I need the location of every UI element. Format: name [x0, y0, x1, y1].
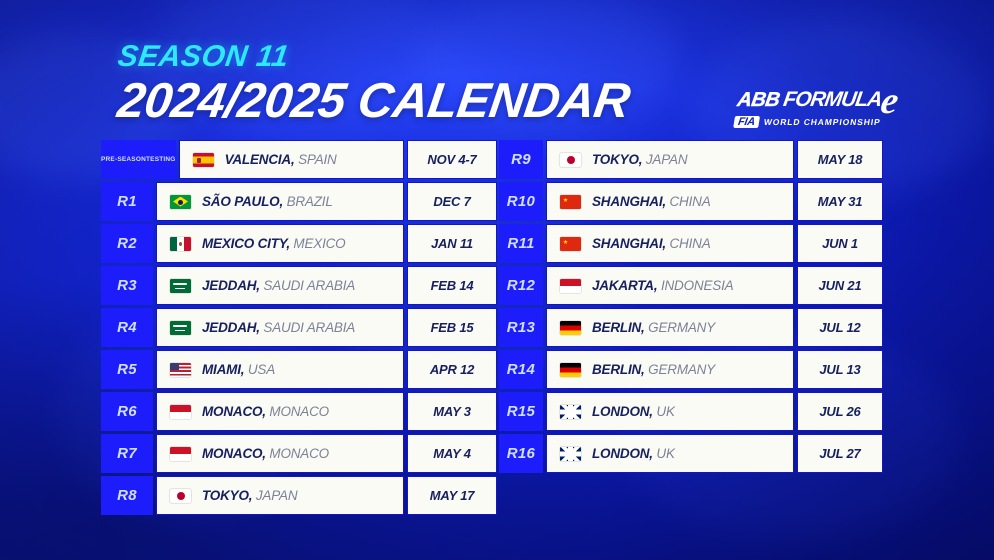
venue-cell: MEXICO CITY, MEXICO	[156, 224, 404, 263]
city-label: LONDON,	[592, 446, 653, 461]
calendar-row: R5MIAMI, USAAPR 12	[101, 350, 497, 389]
race-date: JUL 27	[797, 434, 883, 473]
flag-mexico-icon	[170, 237, 191, 251]
calendar-poster: SEASON 11 2024/2025 CALENDAR ABB FORMULA…	[0, 0, 994, 560]
venue-cell: MIAMI, USA	[156, 350, 404, 389]
country-label: INDONESIA	[657, 278, 733, 293]
venue-cell: LONDON, UK	[546, 434, 794, 473]
flag-germany-icon	[560, 363, 581, 377]
round-badge: R10	[499, 182, 543, 221]
country-label: BRAZIL	[283, 194, 333, 209]
calendar-row: R15LONDON, UKJUL 26	[499, 392, 883, 431]
venue-cell: VALENCIA, SPAIN	[179, 140, 404, 179]
calendar-row: R6MONACO, MONACOMAY 3	[101, 392, 497, 431]
race-date: MAY 31	[797, 182, 883, 221]
country-label: USA	[244, 362, 275, 377]
venue-cell: BERLIN, GERMANY	[546, 350, 794, 389]
race-date: JUN 21	[797, 266, 883, 305]
calendar-row: R2MEXICO CITY, MEXICOJAN 11	[101, 224, 497, 263]
round-badge: R11	[499, 224, 543, 263]
venue-text: MONACO, MONACO	[202, 446, 329, 461]
abb-wordmark: ABB	[736, 89, 781, 112]
country-label: SPAIN	[295, 152, 337, 167]
venue-text: LONDON, UK	[592, 446, 675, 461]
flag-united-kingdom-icon	[560, 405, 581, 419]
venue-cell: MONACO, MONACO	[156, 392, 404, 431]
country-label: SAUDI ARABIA	[260, 320, 355, 335]
flag-china-icon	[560, 237, 581, 251]
race-date: NOV 4-7	[407, 140, 497, 179]
fia-badge: FIA	[733, 116, 760, 128]
round-badge: R8	[101, 476, 153, 515]
round-badge: R4	[101, 308, 153, 347]
flag-germany-icon	[560, 321, 581, 335]
venue-text: BERLIN, GERMANY	[592, 320, 715, 335]
venue-cell: JEDDAH, SAUDI ARABIA	[156, 266, 404, 305]
city-label: JEDDAH,	[202, 278, 260, 293]
flag-japan-icon	[170, 489, 191, 503]
flag-china-icon	[560, 195, 581, 209]
flag-saudi-arabia-icon	[170, 279, 191, 293]
venue-text: MIAMI, USA	[202, 362, 275, 377]
venue-cell: SHANGHAI, CHINA	[546, 224, 794, 263]
venue-cell: TOKYO, JAPAN	[546, 140, 794, 179]
venue-text: JAKARTA, INDONESIA	[592, 278, 733, 293]
venue-cell: SHANGHAI, CHINA	[546, 182, 794, 221]
venue-cell: BERLIN, GERMANY	[546, 308, 794, 347]
venue-cell: LONDON, UK	[546, 392, 794, 431]
calendar-table-right: R9TOKYO, JAPANMAY 18R10SHANGHAI, CHINAMA…	[499, 140, 883, 473]
city-label: LONDON,	[592, 404, 653, 419]
country-label: JAPAN	[252, 488, 297, 503]
country-label: UK	[653, 404, 675, 419]
race-date: FEB 14	[407, 266, 497, 305]
round-badge: R12	[499, 266, 543, 305]
venue-text: JEDDAH, SAUDI ARABIA	[202, 320, 355, 335]
round-badge: R14	[499, 350, 543, 389]
calendar-row: R13BERLIN, GERMANYJUL 12	[499, 308, 883, 347]
venue-text: SHANGHAI, CHINA	[592, 236, 711, 251]
race-date: JUN 1	[797, 224, 883, 263]
season-label: SEASON 11	[116, 42, 920, 72]
calendar-row: R11SHANGHAI, CHINAJUN 1	[499, 224, 883, 263]
venue-cell: MONACO, MONACO	[156, 434, 404, 473]
venue-text: LONDON, UK	[592, 404, 675, 419]
venue-text: JEDDAH, SAUDI ARABIA	[202, 278, 355, 293]
race-date: MAY 17	[407, 476, 497, 515]
country-label: UK	[653, 446, 675, 461]
venue-cell: JAKARTA, INDONESIA	[546, 266, 794, 305]
venue-text: VALENCIA, SPAIN	[225, 152, 337, 167]
race-date: MAY 3	[407, 392, 497, 431]
race-date: FEB 15	[407, 308, 497, 347]
round-badge: R7	[101, 434, 153, 473]
country-label: CHINA	[666, 236, 711, 251]
city-label: TOKYO,	[202, 488, 252, 503]
race-date: JAN 11	[407, 224, 497, 263]
calendar-row: R14BERLIN, GERMANYJUL 13	[499, 350, 883, 389]
city-label: SÃO PAULO,	[202, 194, 283, 209]
flag-united-kingdom-icon	[560, 447, 581, 461]
calendar-row: R9TOKYO, JAPANMAY 18	[499, 140, 883, 179]
city-label: SHANGHAI,	[592, 194, 666, 209]
venue-text: TOKYO, JAPAN	[202, 488, 297, 503]
country-label: GERMANY	[645, 362, 715, 377]
round-badge: R15	[499, 392, 543, 431]
logo-top-row: ABB FORMULA e	[735, 86, 900, 115]
country-label: MONACO	[266, 446, 329, 461]
country-label: SAUDI ARABIA	[260, 278, 355, 293]
round-badge: R16	[499, 434, 543, 473]
flag-saudi-arabia-icon	[170, 321, 191, 335]
country-label: MONACO	[266, 404, 329, 419]
city-label: SHANGHAI,	[592, 236, 666, 251]
logo-bottom-row: FIA WORLD CHAMPIONSHIP	[733, 116, 895, 128]
flag-monaco-icon	[170, 447, 191, 461]
flag-usa-icon	[170, 363, 191, 377]
race-date: JUL 26	[797, 392, 883, 431]
calendar-row: R16LONDON, UKJUL 27	[499, 434, 883, 473]
country-label: CHINA	[666, 194, 711, 209]
flag-brazil-icon	[170, 195, 191, 209]
city-label: MIAMI,	[202, 362, 244, 377]
calendar-row: R12JAKARTA, INDONESIAJUN 21	[499, 266, 883, 305]
city-label: MONACO,	[202, 404, 266, 419]
race-date: DEC 7	[407, 182, 497, 221]
calendar-row: R7MONACO, MONACOMAY 4	[101, 434, 497, 473]
race-date: APR 12	[407, 350, 497, 389]
city-label: MEXICO CITY,	[202, 236, 290, 251]
venue-cell: JEDDAH, SAUDI ARABIA	[156, 308, 404, 347]
calendar-row: R8TOKYO, JAPANMAY 17	[101, 476, 497, 515]
race-date: MAY 18	[797, 140, 883, 179]
country-label: JAPAN	[642, 152, 687, 167]
flag-indonesia-icon	[560, 279, 581, 293]
venue-text: SHANGHAI, CHINA	[592, 194, 711, 209]
round-badge: R2	[101, 224, 153, 263]
venue-cell: TOKYO, JAPAN	[156, 476, 404, 515]
venue-text: MEXICO CITY, MEXICO	[202, 236, 345, 251]
race-date: JUL 13	[797, 350, 883, 389]
city-label: TOKYO,	[592, 152, 642, 167]
race-date: MAY 4	[407, 434, 497, 473]
round-badge: R3	[101, 266, 153, 305]
flag-monaco-icon	[170, 405, 191, 419]
city-label: JAKARTA,	[592, 278, 657, 293]
venue-text: BERLIN, GERMANY	[592, 362, 715, 377]
round-badge: PRE-SEASONTESTING	[101, 140, 176, 179]
venue-cell: SÃO PAULO, BRAZIL	[156, 182, 404, 221]
flag-spain-icon	[193, 153, 214, 167]
round-badge: R6	[101, 392, 153, 431]
calendar-row: R4JEDDAH, SAUDI ARABIAFEB 15	[101, 308, 497, 347]
city-label: BERLIN,	[592, 362, 645, 377]
calendar-row: PRE-SEASONTESTINGVALENCIA, SPAINNOV 4-7	[101, 140, 497, 179]
round-badge: R5	[101, 350, 153, 389]
race-date: JUL 12	[797, 308, 883, 347]
formula-e-logo: ABB FORMULA e FIA WORLD CHAMPIONSHIP	[732, 86, 900, 134]
round-badge: R9	[499, 140, 543, 179]
flag-japan-icon	[560, 153, 581, 167]
venue-text: SÃO PAULO, BRAZIL	[202, 194, 333, 209]
city-label: BERLIN,	[592, 320, 645, 335]
world-championship-label: WORLD CHAMPIONSHIP	[763, 117, 881, 127]
city-label: VALENCIA,	[225, 152, 295, 167]
calendar-row: R1SÃO PAULO, BRAZILDEC 7	[101, 182, 497, 221]
city-label: MONACO,	[202, 446, 266, 461]
calendar-row: R3JEDDAH, SAUDI ARABIAFEB 14	[101, 266, 497, 305]
country-label: GERMANY	[645, 320, 715, 335]
venue-text: MONACO, MONACO	[202, 404, 329, 419]
round-badge: R13	[499, 308, 543, 347]
country-label: MEXICO	[290, 236, 346, 251]
city-label: JEDDAH,	[202, 320, 260, 335]
formula-wordmark: FORMULA	[781, 88, 883, 112]
calendar-row: R10SHANGHAI, CHINAMAY 31	[499, 182, 883, 221]
calendar-table-left: PRE-SEASONTESTINGVALENCIA, SPAINNOV 4-7R…	[101, 140, 497, 515]
round-badge: R1	[101, 182, 153, 221]
venue-text: TOKYO, JAPAN	[592, 152, 687, 167]
